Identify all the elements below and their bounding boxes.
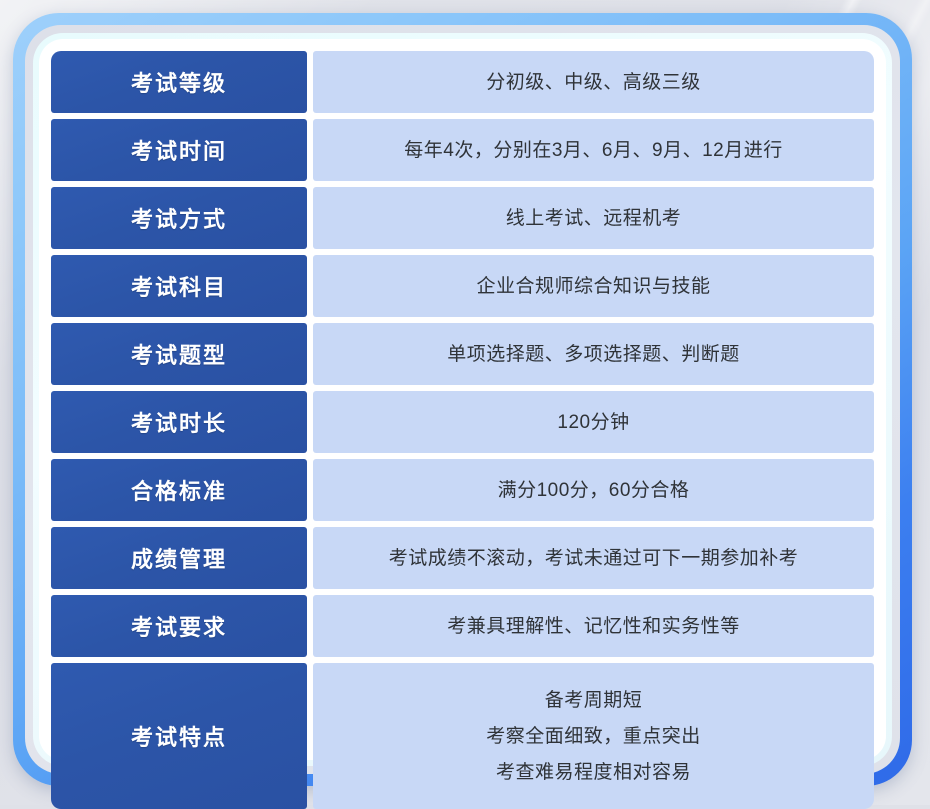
row-label-cell: 考试时间 (51, 119, 307, 181)
row-value-line: 考查难易程度相对容易 (496, 763, 691, 782)
table-row: 考试等级分初级、中级、高级三级 (51, 51, 874, 113)
row-value-line: 考察全面细致，重点突出 (486, 727, 701, 746)
table-row: 考试时长120分钟 (51, 391, 874, 453)
row-value-cell: 每年4次，分别在3月、6月、9月、12月进行 (313, 119, 874, 181)
row-label-cell: 考试题型 (51, 323, 307, 385)
inner-glow-frame: 考试等级分初级、中级、高级三级考试时间每年4次，分别在3月、6月、9月、12月进… (33, 33, 892, 766)
row-value-line: 考试成绩不滚动，考试未通过可下一期参加补考 (389, 549, 799, 568)
row-value-cell: 考兼具理解性、记忆性和实务性等 (313, 595, 874, 657)
row-value-cell: 企业合规师综合知识与技能 (313, 255, 874, 317)
row-value-cell: 线上考试、远程机考 (313, 187, 874, 249)
row-value-cell: 满分100分，60分合格 (313, 459, 874, 521)
outer-blue-frame: 考试等级分初级、中级、高级三级考试时间每年4次，分别在3月、6月、9月、12月进… (13, 13, 912, 786)
mid-gray-frame: 考试等级分初级、中级、高级三级考试时间每年4次，分别在3月、6月、9月、12月进… (25, 25, 900, 774)
table-row: 合格标准满分100分，60分合格 (51, 459, 874, 521)
row-value-line: 备考周期短 (545, 691, 643, 710)
row-value-line: 每年4次，分别在3月、6月、9月、12月进行 (404, 141, 782, 160)
table-row: 考试要求考兼具理解性、记忆性和实务性等 (51, 595, 874, 657)
row-value-cell: 考试成绩不滚动，考试未通过可下一期参加补考 (313, 527, 874, 589)
row-label-cell: 考试科目 (51, 255, 307, 317)
row-value-line: 120分钟 (557, 413, 629, 432)
table-row: 考试方式线上考试、远程机考 (51, 187, 874, 249)
table-row: 考试科目企业合规师综合知识与技能 (51, 255, 874, 317)
row-value-line: 满分100分，60分合格 (498, 481, 690, 500)
row-label-cell: 考试方式 (51, 187, 307, 249)
table-row: 考试时间每年4次，分别在3月、6月、9月、12月进行 (51, 119, 874, 181)
row-label-cell: 考试要求 (51, 595, 307, 657)
exam-info-table: 考试等级分初级、中级、高级三级考试时间每年4次，分别在3月、6月、9月、12月进… (51, 51, 874, 748)
white-panel: 考试等级分初级、中级、高级三级考试时间每年4次，分别在3月、6月、9月、12月进… (39, 39, 886, 760)
row-label-cell: 考试特点 (51, 663, 307, 809)
row-label-cell: 考试时长 (51, 391, 307, 453)
row-label-cell: 合格标准 (51, 459, 307, 521)
row-value-line: 分初级、中级、高级三级 (486, 73, 701, 92)
table-row: 考试题型单项选择题、多项选择题、判断题 (51, 323, 874, 385)
row-label-cell: 考试等级 (51, 51, 307, 113)
row-label-cell: 成绩管理 (51, 527, 307, 589)
row-value-cell: 分初级、中级、高级三级 (313, 51, 874, 113)
row-value-line: 企业合规师综合知识与技能 (476, 277, 710, 296)
row-value-line: 线上考试、远程机考 (506, 209, 682, 228)
row-value-line: 单项选择题、多项选择题、判断题 (447, 345, 740, 364)
row-value-cell: 120分钟 (313, 391, 874, 453)
row-value-cell: 单项选择题、多项选择题、判断题 (313, 323, 874, 385)
table-row: 成绩管理考试成绩不滚动，考试未通过可下一期参加补考 (51, 527, 874, 589)
table-row: 考试特点备考周期短考察全面细致，重点突出考查难易程度相对容易 (51, 663, 874, 809)
row-value-cell: 备考周期短考察全面细致，重点突出考查难易程度相对容易 (313, 663, 874, 809)
row-value-line: 考兼具理解性、记忆性和实务性等 (447, 617, 740, 636)
